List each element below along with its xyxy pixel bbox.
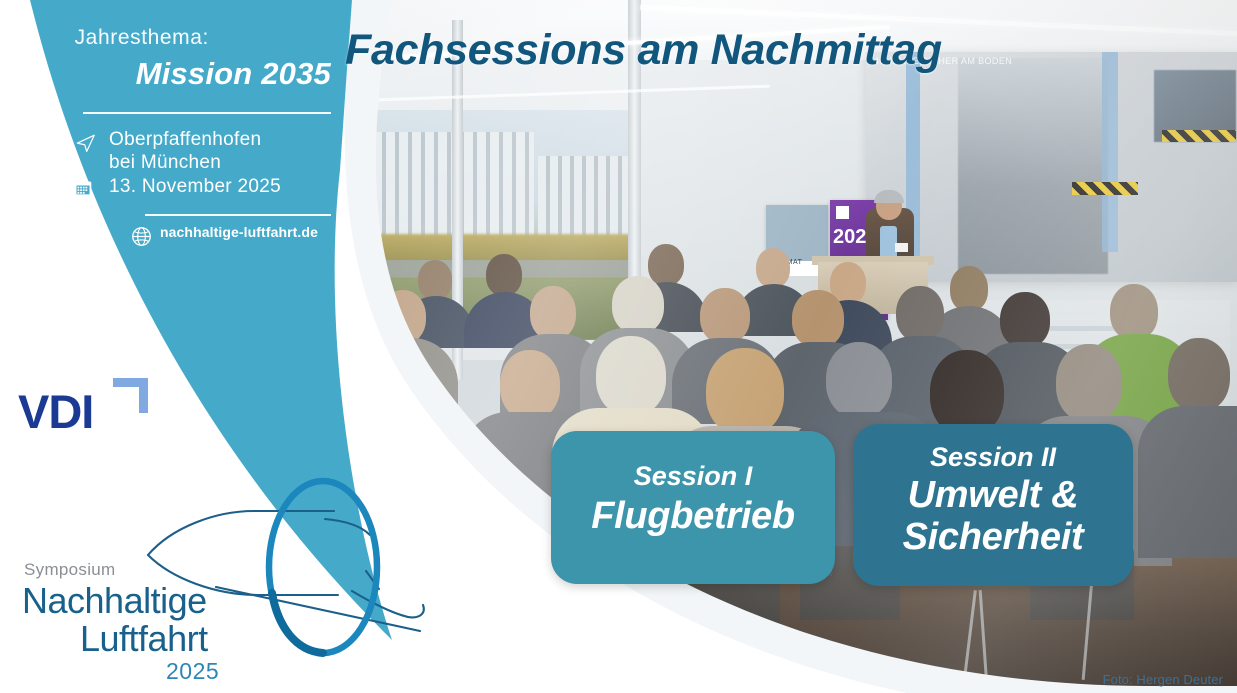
globe-icon bbox=[131, 226, 152, 247]
annual-theme-value: Mission 2035 bbox=[136, 56, 331, 92]
location-text: Oberpfaffenhofen bei München bbox=[109, 128, 331, 174]
session-1-subtitle: Session I bbox=[551, 461, 835, 492]
annual-theme-label: Jahresthema: bbox=[75, 26, 209, 50]
projection-screen: 40 JAHRE SICHER AM BODEN bbox=[866, 52, 1237, 282]
banner-square-mark bbox=[836, 206, 849, 219]
session-1-badge[interactable]: Session I Flugbetrieb bbox=[551, 431, 835, 584]
symposium-kicker: Symposium bbox=[24, 560, 116, 580]
location-line-2: bei München bbox=[109, 151, 331, 174]
location-line-1: Oberpfaffenhofen bbox=[109, 128, 331, 151]
vdi-logo: VDI bbox=[18, 378, 138, 440]
symposium-line-2: Luftfahrt bbox=[80, 618, 208, 660]
paper-plane-icon bbox=[73, 132, 99, 154]
session-2-badge[interactable]: Session II Umwelt & Sicherheit bbox=[853, 424, 1133, 586]
session-2-title-line-2: Sicherheit bbox=[853, 517, 1133, 557]
divider-rule-2 bbox=[145, 214, 331, 216]
location-row: Oberpfaffenhofen bei München 13. Novembe… bbox=[71, 128, 331, 174]
session-1-title: Flugbetrieb bbox=[551, 496, 835, 536]
vdi-corner-bracket-icon bbox=[113, 378, 148, 413]
event-info-block: Jahresthema: Mission 2035 Oberpfaffenhof… bbox=[0, 0, 345, 260]
symposium-line-1: Nachhaltige bbox=[22, 580, 207, 622]
divider-rule bbox=[83, 112, 331, 114]
session-2-subtitle: Session II bbox=[853, 442, 1133, 473]
photo-credit: Foto: Hergen Deuter bbox=[1103, 672, 1223, 687]
screen-tube bbox=[1102, 52, 1118, 252]
page-title: Fachsessions am Nachmittag bbox=[345, 26, 942, 75]
session-2-title-line-1: Umwelt & bbox=[853, 475, 1133, 515]
website-row[interactable]: nachhaltige-luftfahrt.de bbox=[131, 224, 331, 240]
vdi-logo-wordmark: VDI bbox=[18, 384, 93, 439]
symposium-year: 2025 bbox=[166, 658, 219, 685]
screen-test-rig bbox=[958, 58, 1108, 274]
website-url[interactable]: nachhaltige-luftfahrt.de bbox=[160, 224, 331, 240]
calendar-icon bbox=[73, 178, 93, 198]
screen-hazard-stripe bbox=[1162, 130, 1236, 142]
banner-year-label: 202 bbox=[833, 226, 866, 249]
screen-hazard-stripe bbox=[1072, 182, 1138, 195]
event-date: 13. November 2025 bbox=[109, 176, 281, 198]
event-announcement-graphic: 40 JAHRE SICHER AM BODEN ECOMAT 202 bbox=[0, 0, 1237, 693]
symposium-logo: Symposium Nachhaltige Luftfahrt 2025 bbox=[18, 560, 288, 680]
